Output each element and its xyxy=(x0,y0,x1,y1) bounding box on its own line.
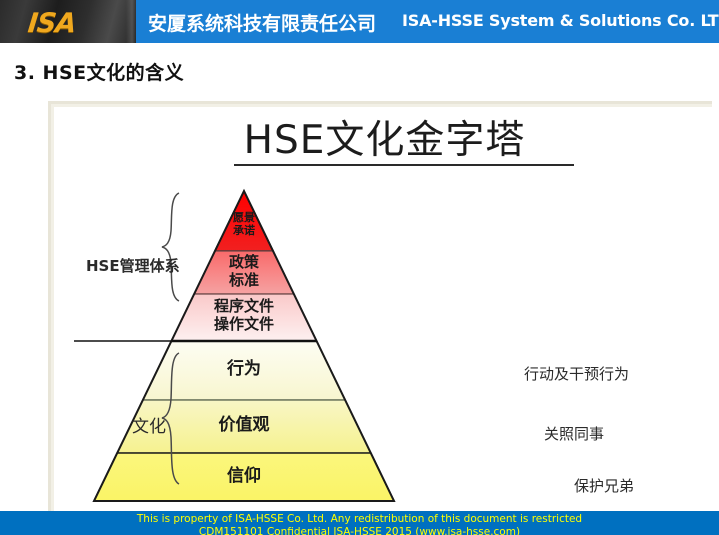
label-right-care-colleagues: 关照同事 xyxy=(544,423,604,444)
slide-title: 3. HSE文化的含义 xyxy=(14,58,184,85)
pyramid-shape xyxy=(54,107,712,511)
content-picture-frame: HSE文化金字塔 xyxy=(48,101,712,511)
pyramid-tier-6 xyxy=(94,453,394,501)
company-name-english: ISA-HSSE System & Solutions Co. LTD xyxy=(402,11,719,30)
footer-copyright-line: This is property of ISA-HSSE Co. Ltd. An… xyxy=(0,513,719,525)
label-culture: 文化 xyxy=(132,412,166,437)
company-name-chinese: 安厦系统科技有限责任公司 xyxy=(148,9,376,36)
pyramid-tier-4 xyxy=(143,341,346,400)
pyramid-tier-3 xyxy=(171,294,317,341)
brace-hse-system xyxy=(162,193,179,301)
header-bar: ISA 安厦系统科技有限责任公司 ISA-HSSE System & Solut… xyxy=(0,0,719,43)
logo-panel: ISA xyxy=(0,0,136,43)
isa-logo: ISA xyxy=(26,8,77,39)
pyramid-diagram: HSE文化金字塔 xyxy=(54,107,712,511)
pyramid-tier-1 xyxy=(215,191,273,251)
footer-document-id-line: CDM151101 Confidential ISA-HSSE 2015 (ww… xyxy=(0,526,719,535)
footer-bar: This is property of ISA-HSSE Co. Ltd. An… xyxy=(0,511,719,535)
label-right-action-intervention: 行动及干预行为 xyxy=(524,363,629,384)
pyramid-tier-2 xyxy=(194,251,294,294)
label-hse-management-system: HSE管理体系 xyxy=(86,255,180,276)
label-right-protect-brothers: 保护兄弟 xyxy=(574,475,634,496)
